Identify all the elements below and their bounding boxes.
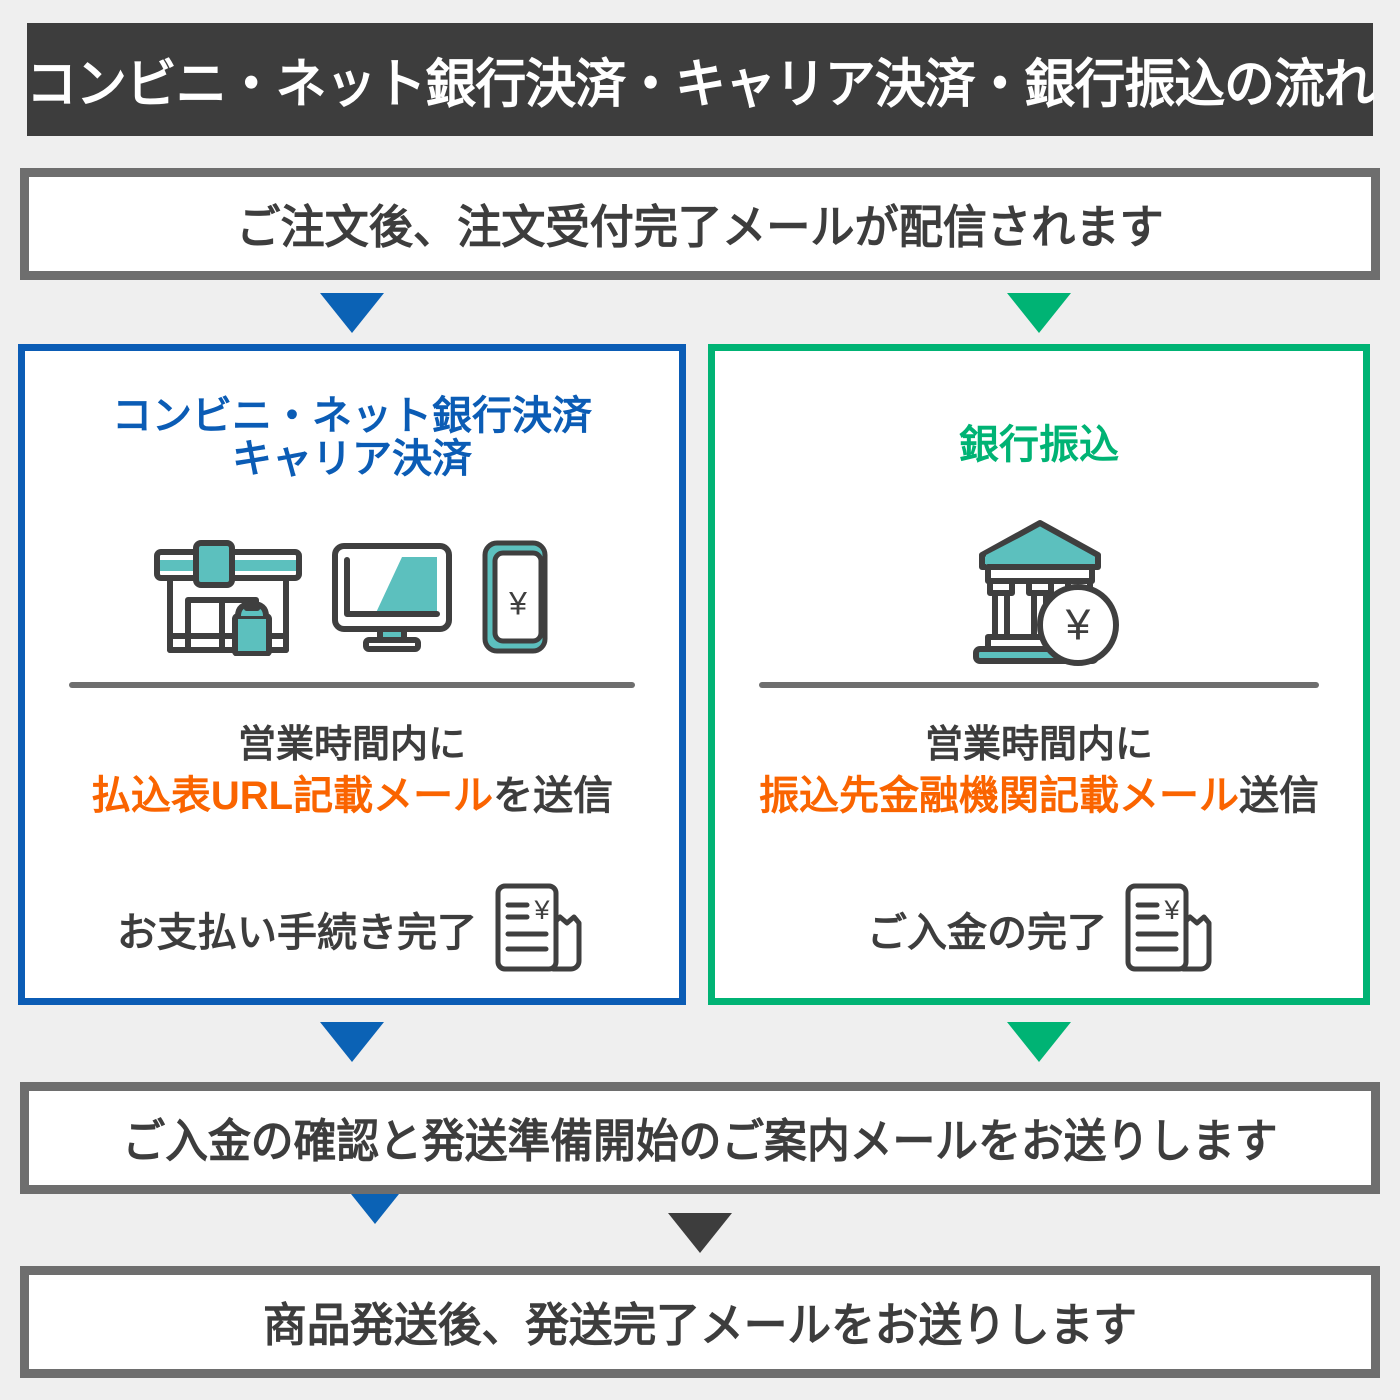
panel-convenience-title: コンビニ・ネット銀行決済 キャリア決済 xyxy=(25,395,679,481)
down-arrow-icon-top-right xyxy=(1007,293,1071,333)
invoice-yen-icon: ¥ xyxy=(1121,879,1217,979)
panel-bank-transfer: 銀行振込 xyxy=(708,344,1370,1005)
panel-bank-icons: ¥ xyxy=(715,501,1363,681)
svg-text:¥: ¥ xyxy=(533,895,550,925)
panel-bank-note-line2: 振込先金融機関記載メール送信 xyxy=(715,770,1363,822)
down-arrow-icon-inner-left xyxy=(347,1189,403,1224)
panel-convenience-icons: ¥ xyxy=(25,527,679,667)
step-payment-confirmed: ご入金の確認と発送準備開始のご案内メールをお送りします xyxy=(20,1082,1380,1194)
down-arrow-icon-final xyxy=(668,1213,732,1253)
panel-convenience-note-line2: 払込表URL記載メールを送信 xyxy=(25,770,679,822)
panel-convenience-note-suffix: を送信 xyxy=(493,774,613,818)
panel-bank-title-line1: 銀行振込 xyxy=(959,423,1119,467)
desktop-monitor-icon xyxy=(330,541,454,653)
panel-bank-note-line1: 営業時間内に xyxy=(715,721,1363,770)
panel-convenience-note-highlight: 払込表URL記載メール xyxy=(91,774,493,818)
down-arrow-icon-bottom-right xyxy=(1007,1022,1071,1062)
step-order-received-text: ご注文後、注文受付完了メールが配信されます xyxy=(236,191,1163,257)
down-arrow-icon-top-left xyxy=(320,293,384,333)
page-title-text: コンビニ・ネット銀行決済・キャリア決済・銀行振込の流れ xyxy=(26,42,1374,118)
step-payment-confirmed-text: ご入金の確認と発送準備開始のご案内メールをお送りします xyxy=(122,1105,1277,1171)
smartphone-yen-icon: ¥ xyxy=(480,538,552,656)
panel-bank-divider xyxy=(759,682,1319,688)
panel-convenience-note-line1: 営業時間内に xyxy=(25,721,679,770)
panel-bank-note-suffix: 送信 xyxy=(1239,774,1319,818)
panel-bank-note-highlight: 振込先金融機関記載メール xyxy=(759,774,1239,818)
svg-text:¥: ¥ xyxy=(1163,895,1180,925)
step-shipped: 商品発送後、発送完了メールをお送りします xyxy=(20,1266,1380,1378)
panel-convenience-payment: コンビニ・ネット銀行決済 キャリア決済 xyxy=(18,344,686,1005)
panel-convenience-done-label: お支払い手続き完了 xyxy=(117,900,477,958)
panel-bank-done: ご入金の完了 ¥ xyxy=(715,877,1363,981)
panel-bank-note: 営業時間内に 振込先金融機関記載メール送信 xyxy=(715,721,1363,822)
panel-bank-title: 銀行振込 xyxy=(715,424,1363,467)
step-shipped-text: 商品発送後、発送完了メールをお送りします xyxy=(263,1289,1137,1355)
flow-diagram: コンビニ・ネット銀行決済・キャリア決済・銀行振込の流れ ご注文後、注文受付完了メ… xyxy=(0,0,1400,1400)
panel-bank-done-label: ご入金の完了 xyxy=(867,900,1107,958)
panel-convenience-divider xyxy=(69,682,635,688)
svg-text:¥: ¥ xyxy=(508,585,527,621)
convenience-store-icon xyxy=(152,538,304,656)
invoice-yen-icon: ¥ xyxy=(491,879,587,979)
panel-convenience-title-line2: キャリア決済 xyxy=(25,438,679,481)
svg-text:¥: ¥ xyxy=(1065,601,1091,650)
panel-convenience-note: 営業時間内に 払込表URL記載メールを送信 xyxy=(25,721,679,822)
panel-convenience-title-line1: コンビニ・ネット銀行決済 xyxy=(112,394,592,438)
panel-convenience-done: お支払い手続き完了 ¥ xyxy=(25,877,679,981)
bank-building-yen-icon: ¥ xyxy=(954,515,1124,667)
page-title: コンビニ・ネット銀行決済・キャリア決済・銀行振込の流れ xyxy=(27,23,1373,136)
down-arrow-icon-bottom-left xyxy=(320,1022,384,1062)
step-order-received: ご注文後、注文受付完了メールが配信されます xyxy=(20,168,1380,280)
